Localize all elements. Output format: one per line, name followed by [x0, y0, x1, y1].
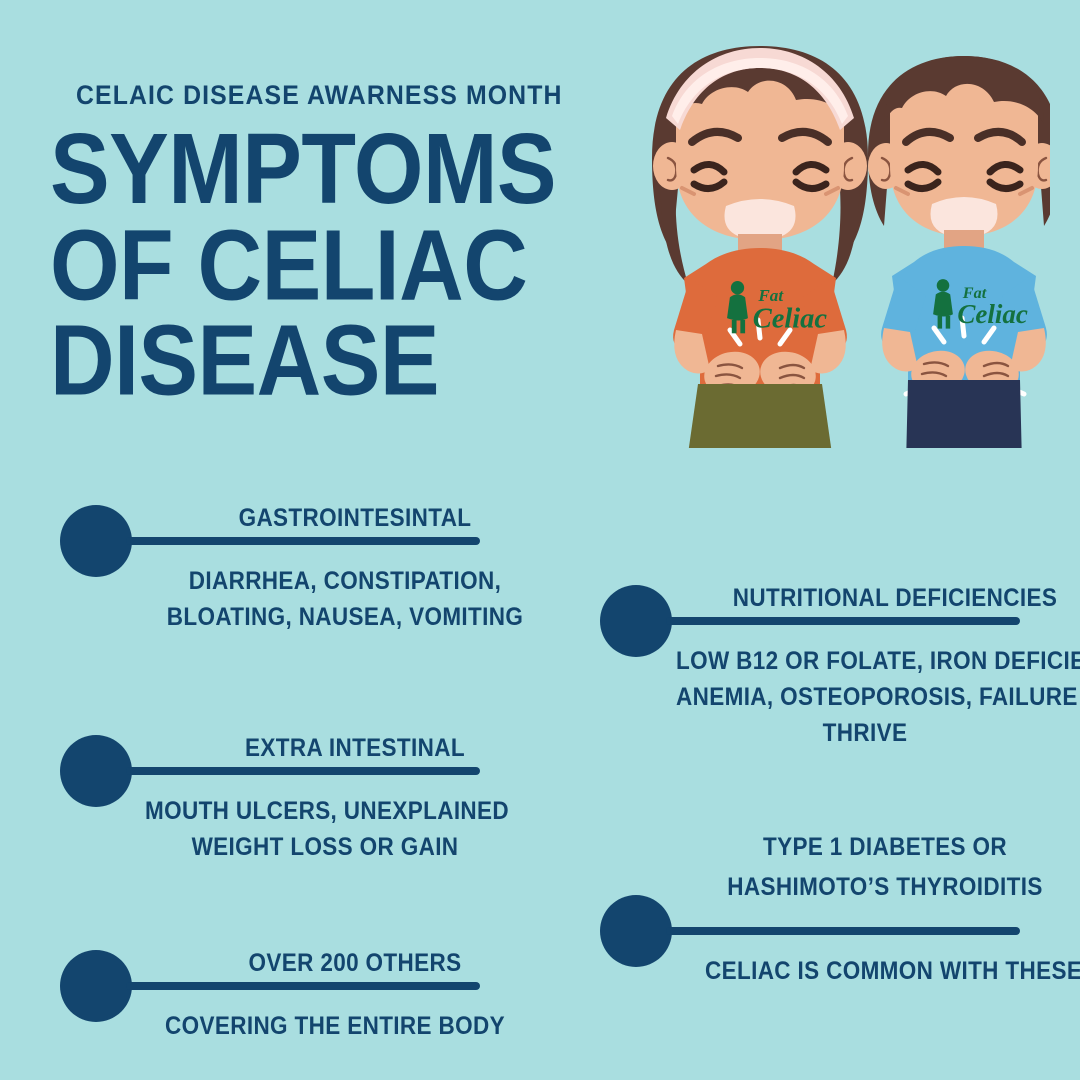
bullet-extra-intestinal: EXTRA INTESTINAL MOUTH ULCERS, UNEXPLAIN… [60, 735, 485, 880]
bullet-title-line: GASTROINTESINTAL [184, 503, 526, 533]
bullet-title: TYPE 1 DIABETES OR HASHIMOTO’S THYROIDIT… [705, 827, 1065, 907]
bullet-autoimmune-associations: TYPE 1 DIABETES OR HASHIMOTO’S THYROIDIT… [600, 895, 1025, 1045]
bullet-over-200-others: OVER 200 OTHERS COVERING THE ENTIRE BODY [60, 950, 485, 1060]
bullet-body-line: MOUTH ULCERS, UNEXPLAINED [145, 793, 505, 829]
bullet-title-line: TYPE 1 DIABETES OR [705, 827, 1065, 867]
girl-figure: Fat Celiac [652, 46, 868, 448]
svg-text:Celiac: Celiac [753, 304, 828, 335]
page-title: SYMPTOMS OF CELIAC DISEASE [50, 122, 591, 409]
title-line-3: DISEASE [50, 314, 591, 410]
bullet-dot [600, 585, 672, 657]
svg-text:Celiac: Celiac [957, 299, 1027, 329]
bullet-title: GASTROINTESINTAL [184, 503, 526, 533]
children-illustration: Fat Celiac [610, 38, 1050, 448]
bullet-bar [126, 767, 480, 775]
bullet-body: MOUTH ULCERS, UNEXPLAINED WEIGHT LOSS OR… [145, 793, 505, 865]
bullet-body-line: CELIAC IS COMMON WITH THESE [705, 953, 1065, 989]
bullet-body: COVERING THE ENTIRE BODY [164, 1008, 506, 1044]
infographic-canvas: CELAIC DISEASE AWARNESS MONTH SYMPTOMS O… [0, 0, 1080, 1080]
bullet-body: LOW B12 OR FOLATE, IRON DEFICIENCY ANEMI… [676, 643, 1054, 751]
title-line-2: OF CELIAC [50, 218, 591, 314]
bullet-body-line: DIARRHEA, CONSTIPATION, [165, 563, 525, 599]
bullet-body: CELIAC IS COMMON WITH THESE [705, 953, 1065, 989]
bullet-dot [600, 895, 672, 967]
bullet-body-line: ANEMIA, OSTEOPOROSIS, FAILURE TO [676, 679, 1054, 715]
bullet-body: DIARRHEA, CONSTIPATION, BLOATING, NAUSEA… [165, 563, 525, 635]
title-line-1: SYMPTOMS [50, 122, 591, 218]
bullet-title-line: HASHIMOTO’S THYROIDITIS [705, 867, 1065, 907]
bullet-bar [666, 927, 1020, 935]
bullet-nutritional-deficiencies: NUTRITIONAL DEFICIENCIES LOW B12 OR FOLA… [600, 585, 1025, 770]
bullet-title-line: EXTRA INTESTINAL [184, 733, 526, 763]
bullet-title-line: NUTRITIONAL DEFICIENCIES [724, 583, 1066, 613]
bullet-dot [60, 735, 132, 807]
bullet-body-line: THRIVE [676, 715, 1054, 751]
bullet-bar [666, 617, 1020, 625]
bullet-title: EXTRA INTESTINAL [184, 733, 526, 763]
bullet-bar [126, 537, 480, 545]
bullet-gastrointestinal: GASTROINTESINTAL DIARRHEA, CONSTIPATION,… [60, 505, 485, 650]
bullet-title: NUTRITIONAL DEFICIENCIES [724, 583, 1066, 613]
svg-text:Fat: Fat [757, 286, 784, 305]
bullet-body-line: BLOATING, NAUSEA, VOMITING [165, 599, 525, 635]
bullet-dot [60, 505, 132, 577]
bullet-body-line: WEIGHT LOSS OR GAIN [145, 829, 505, 865]
bullet-title-line: OVER 200 OTHERS [184, 948, 526, 978]
bullet-body-line: LOW B12 OR FOLATE, IRON DEFICIENCY [676, 643, 1054, 679]
boy-figure: Fat Celiac [868, 56, 1050, 448]
eyebrow-text: CELAIC DISEASE AWARNESS MONTH [76, 80, 563, 111]
bullet-body-line: COVERING THE ENTIRE BODY [164, 1008, 506, 1044]
bullet-bar [126, 982, 480, 990]
bullet-dot [60, 950, 132, 1022]
bullet-title: OVER 200 OTHERS [184, 948, 526, 978]
